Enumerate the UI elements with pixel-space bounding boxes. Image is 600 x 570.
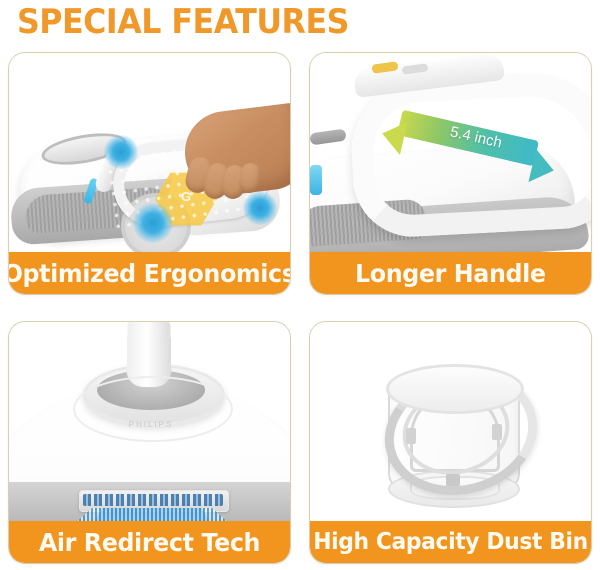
dust-bin-latch xyxy=(446,474,460,486)
dust-bin-top-rim xyxy=(386,364,524,414)
longer-handle-illustration: 5.4 inch xyxy=(310,53,591,252)
feature-card-optimized-ergonomics[interactable]: G Optimized Ergonomics xyxy=(8,52,291,295)
feature-card-longer-handle[interactable]: 5.4 inch Longer Handle xyxy=(309,52,592,295)
blue-accent-indicator xyxy=(310,165,322,195)
card-label-banner: Longer Handle xyxy=(310,252,591,294)
card-label-text: Air Redirect Tech xyxy=(39,528,260,557)
feature-infographic: SPECIAL FEATURES G xyxy=(0,0,600,570)
card-label-text: High Capacity Dust Bin xyxy=(313,529,588,555)
dust-bin-clip xyxy=(492,424,502,440)
brand-mark: PHILIPS xyxy=(105,420,197,429)
dust-bin-assembly xyxy=(382,358,524,506)
card-label-text: Optimized Ergonomics xyxy=(8,259,291,288)
ergonomics-illustration: G xyxy=(9,53,290,252)
vent-slot-grid xyxy=(83,494,223,506)
vacuum-outer-ring xyxy=(73,376,233,442)
pivot-glow-upper xyxy=(104,135,138,169)
air-redirect-illustration: PHILIPS xyxy=(9,322,290,521)
vacuum-side-tab xyxy=(310,129,347,146)
arrow-head-left-icon xyxy=(378,117,407,155)
card-label-text: Longer Handle xyxy=(355,259,546,288)
card-label-banner: Air Redirect Tech xyxy=(9,521,290,563)
pivot-glow-center xyxy=(133,203,173,243)
pivot-glow-right xyxy=(243,191,277,225)
measurement-arrow: 5.4 inch xyxy=(382,103,554,175)
feature-card-high-capacity-dust-bin[interactable]: High Capacity Dust Bin xyxy=(309,321,592,564)
feature-card-grid: G Optimized Ergonomics xyxy=(8,52,592,564)
dust-bin-clip xyxy=(406,428,416,444)
card-label-banner: Optimized Ergonomics xyxy=(9,252,290,294)
card-label-banner: High Capacity Dust Bin xyxy=(310,521,591,563)
dust-bin-illustration xyxy=(310,322,591,521)
feature-card-air-redirect-tech[interactable]: PHILIPS Air Redirect Tech xyxy=(8,321,291,564)
page-title: SPECIAL FEATURES xyxy=(17,1,349,43)
